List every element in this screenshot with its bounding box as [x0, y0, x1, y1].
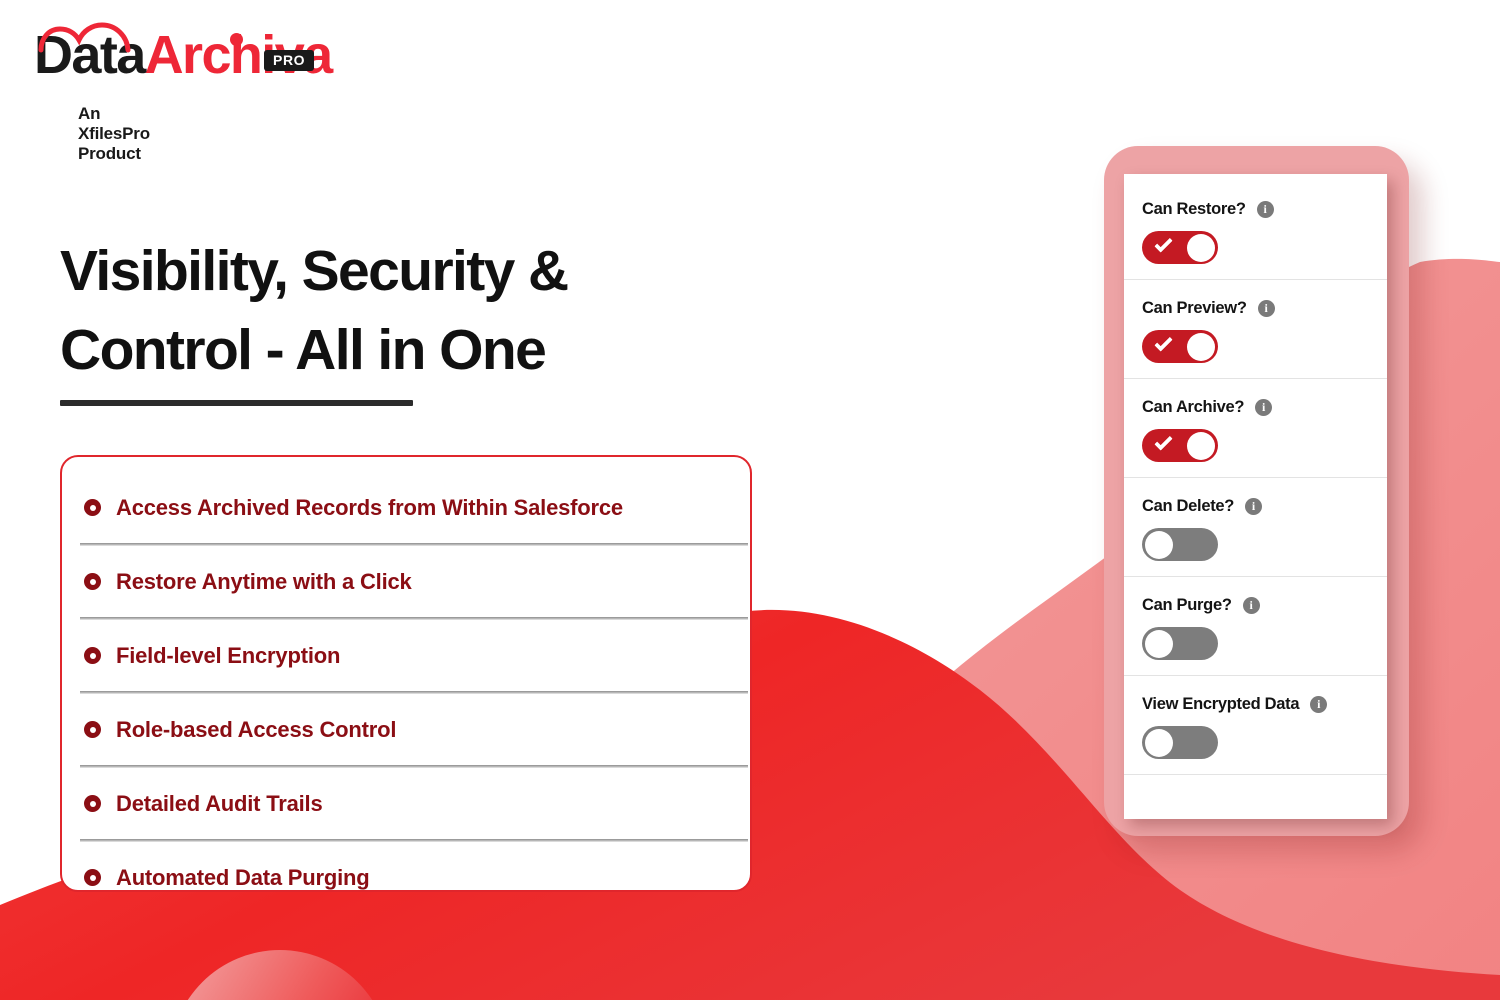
info-icon[interactable] [1245, 498, 1262, 515]
ring-bullet-icon [84, 795, 101, 812]
ring-bullet-icon [84, 869, 101, 886]
feature-separator [80, 617, 748, 620]
phone-mockup: Can Restore?Can Preview?Can Archive?Can … [1104, 146, 1409, 836]
permission-toggle-off[interactable] [1142, 726, 1218, 759]
brand-tagline: An XfilesPro Product [78, 104, 150, 164]
toggle-knob [1187, 333, 1215, 361]
info-icon[interactable] [1243, 597, 1260, 614]
title-underline-rule [60, 400, 413, 406]
cloud-icon [37, 20, 133, 54]
permission-settings-list: Can Restore?Can Preview?Can Archive?Can … [1124, 174, 1387, 775]
list-item: Restore Anytime with a Click [62, 557, 750, 606]
check-icon [1154, 234, 1172, 252]
permission-label: Can Delete? [1142, 497, 1234, 516]
poster-canvas: DataArchiva PRO An XfilesPro Product Vis… [0, 0, 1500, 1000]
ring-bullet-icon [84, 499, 101, 516]
permission-toggle-on[interactable] [1142, 330, 1218, 363]
permission-label: Can Purge? [1142, 596, 1232, 615]
permission-row: Can Restore? [1124, 196, 1387, 264]
permission-header: Can Delete? [1142, 493, 1369, 519]
permission-toggle-on[interactable] [1142, 231, 1218, 264]
page-title: Visibility, Security & Control - All in … [60, 232, 740, 390]
list-item: Automated Data Purging [62, 853, 750, 902]
permission-row: Can Delete? [1124, 493, 1387, 561]
check-icon [1154, 432, 1172, 450]
info-icon[interactable] [1258, 300, 1275, 317]
feature-separator [80, 765, 748, 768]
list-item: Access Archived Records from Within Sale… [62, 483, 750, 532]
info-icon[interactable] [1257, 201, 1274, 218]
pro-badge: PRO [264, 50, 314, 71]
permission-row: Can Preview? [1124, 295, 1387, 363]
list-item: Field-level Encryption [62, 631, 750, 680]
feature-list-card: Access Archived Records from Within Sale… [60, 455, 752, 892]
permission-row: Can Archive? [1124, 394, 1387, 462]
permission-header: Can Preview? [1142, 295, 1369, 321]
page-title-line-1: Visibility, Security & [60, 239, 568, 303]
feature-label: Detailed Audit Trails [116, 791, 322, 817]
permission-label: View Encrypted Data [1142, 695, 1299, 714]
feature-label: Field-level Encryption [116, 643, 340, 669]
permission-separator [1124, 279, 1387, 280]
info-icon[interactable] [1255, 399, 1272, 416]
permission-label: Can Archive? [1142, 398, 1244, 417]
page-title-line-2: Control - All in One [60, 318, 545, 382]
feature-label: Automated Data Purging [116, 865, 370, 891]
ring-bullet-icon [84, 573, 101, 590]
feature-separator [80, 543, 748, 546]
permission-row: Can Purge? [1124, 592, 1387, 660]
list-item: Role-based Access Control [62, 705, 750, 754]
permission-toggle-off[interactable] [1142, 627, 1218, 660]
toggle-knob [1187, 234, 1215, 262]
toggle-knob [1187, 432, 1215, 460]
permission-header: Can Purge? [1142, 592, 1369, 618]
permission-header: Can Restore? [1142, 196, 1369, 222]
permission-label: Can Preview? [1142, 299, 1247, 318]
ring-bullet-icon [84, 647, 101, 664]
logo-accent-dot [230, 33, 243, 46]
permission-separator [1124, 477, 1387, 478]
toggle-knob [1145, 729, 1173, 757]
check-icon [1154, 333, 1172, 351]
info-icon[interactable] [1310, 696, 1327, 713]
feature-list: Access Archived Records from Within Sale… [62, 483, 750, 902]
permission-separator [1124, 774, 1387, 775]
toggle-knob [1145, 630, 1173, 658]
feature-label: Restore Anytime with a Click [116, 569, 412, 595]
permission-toggle-on[interactable] [1142, 429, 1218, 462]
feature-label: Role-based Access Control [116, 717, 396, 743]
ring-bullet-icon [84, 721, 101, 738]
permission-row: View Encrypted Data [1124, 691, 1387, 759]
permission-label: Can Restore? [1142, 200, 1246, 219]
permission-toggle-off[interactable] [1142, 528, 1218, 561]
feature-separator [80, 691, 748, 694]
phone-screen: Can Restore?Can Preview?Can Archive?Can … [1124, 174, 1387, 819]
permission-separator [1124, 576, 1387, 577]
feature-label: Access Archived Records from Within Sale… [116, 495, 623, 521]
feature-separator [80, 839, 748, 842]
permission-separator [1124, 675, 1387, 676]
list-item: Detailed Audit Trails [62, 779, 750, 828]
permission-separator [1124, 378, 1387, 379]
permission-header: Can Archive? [1142, 394, 1369, 420]
toggle-knob [1145, 531, 1173, 559]
permission-header: View Encrypted Data [1142, 691, 1369, 717]
